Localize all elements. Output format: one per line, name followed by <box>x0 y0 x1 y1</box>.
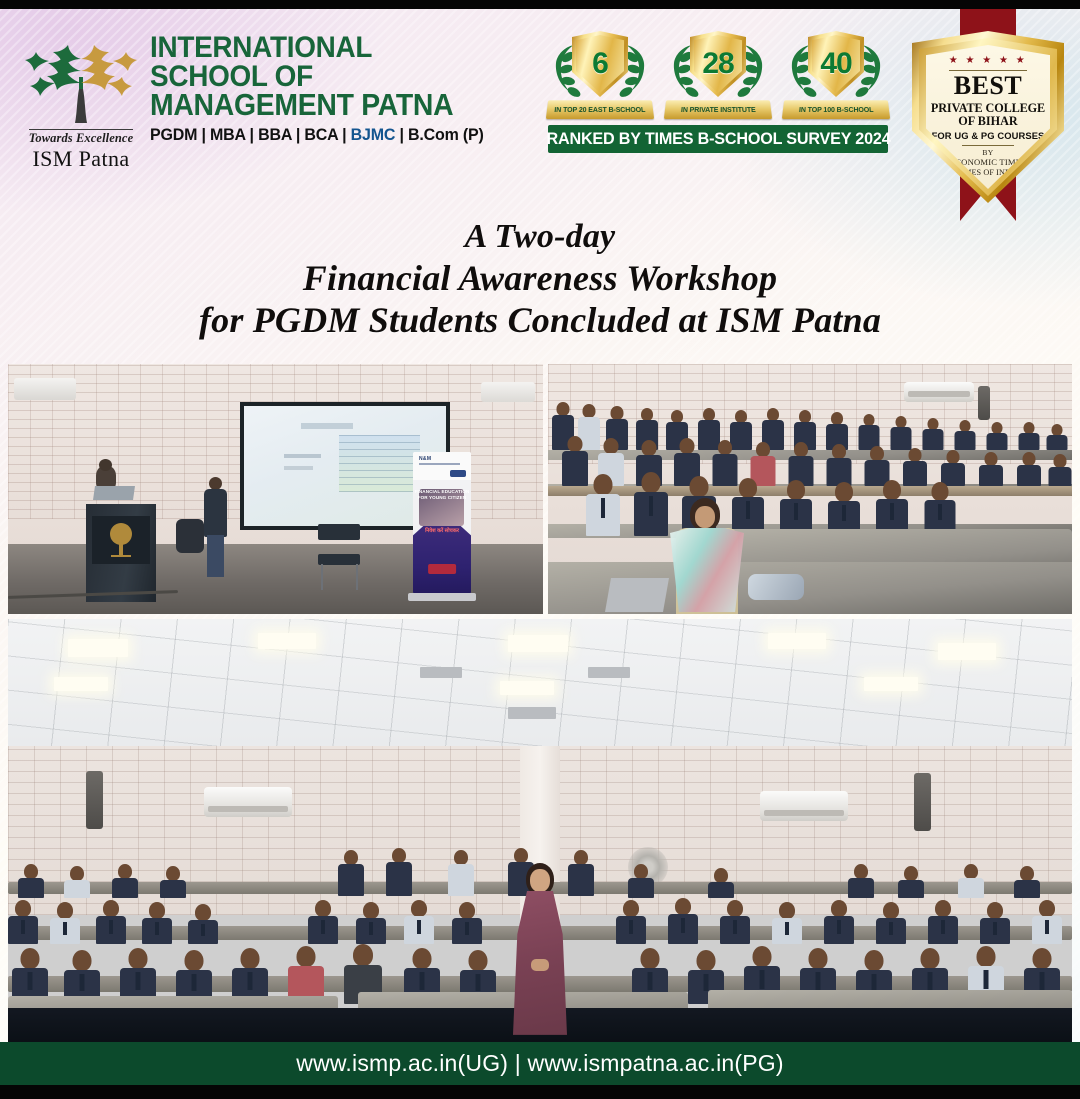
ceiling-light-panel <box>258 633 316 649</box>
student <box>8 900 38 944</box>
student <box>824 900 854 944</box>
lectern-podium <box>86 504 156 602</box>
student <box>958 864 984 898</box>
logo-short-name: ISM Patna <box>32 147 129 170</box>
banner-stand <box>408 593 476 601</box>
title-line3: for PGDM Students Concluded at ISM Patna <box>199 299 881 341</box>
presenter-face <box>530 869 550 892</box>
wall-speaker-icon <box>86 771 103 829</box>
air-conditioner-icon <box>14 378 76 400</box>
student <box>708 868 734 898</box>
podium-laptop <box>93 486 135 500</box>
student <box>1016 452 1042 486</box>
letterbox-bottom <box>0 1085 1080 1099</box>
banner-logo: N&M <box>419 456 431 462</box>
student <box>404 900 434 944</box>
belongings-on-bench <box>748 574 804 600</box>
student <box>308 900 338 944</box>
medal-rank-number: 28 <box>702 49 733 79</box>
medal-caption-scroll: IN TOP 20 EAST B-SCHOOL <box>546 100 654 119</box>
photo-collage: N&M FINANCIAL EDUCATIONFOR YOUNG CITIZEN… <box>8 364 1072 1042</box>
title-line2: Financial Awareness Workshop <box>303 257 777 299</box>
medal-rank-number: 40 <box>820 49 851 79</box>
programs-prefix: PGDM | MBA | BBA | BCA | <box>150 126 351 144</box>
podium-tree-logo-icon <box>99 521 143 559</box>
student <box>890 416 912 450</box>
student <box>112 864 138 898</box>
presenter-standing <box>509 863 571 1035</box>
standing-attendee <box>204 477 227 577</box>
student <box>954 420 976 450</box>
student <box>160 866 186 898</box>
attendee-torso <box>204 489 227 537</box>
student <box>876 480 908 536</box>
student <box>928 900 958 944</box>
poster-header: Towards Excellence ISM Patna INTERNATION… <box>0 9 1080 201</box>
student <box>1014 866 1040 898</box>
ranked-by-bar: RANKED BY TIMES B-SCHOOL SURVEY 2024 <box>548 125 888 153</box>
hall-ceiling <box>8 619 1072 759</box>
student <box>858 414 880 450</box>
chair-seat <box>318 554 360 565</box>
programs-list: PGDM | MBA | BBA | BCA | BJMC | B.Com (P… <box>150 126 484 145</box>
air-conditioner-icon <box>760 791 848 821</box>
student <box>562 436 588 486</box>
award-divider-bottom <box>962 145 1014 146</box>
medal-caption-scroll: IN TOP 100 B-SCHOOL <box>782 100 890 119</box>
rankings-group: 6 IN TOP 20 EAST B-SCHOOL <box>548 31 888 153</box>
award-shield-face: ★ ★ ★ ★ ★ BEST PRIVATE COLLEGE OF BIHAR … <box>926 45 1050 189</box>
slide-title-bar <box>301 423 354 429</box>
student <box>50 902 80 944</box>
student <box>720 900 750 944</box>
ceiling-light-panel <box>768 633 826 649</box>
student <box>1048 454 1072 486</box>
student <box>568 850 594 896</box>
student <box>386 848 412 896</box>
award-line3: FOR UG & PG COURSES <box>932 130 1045 141</box>
ceiling-light-panel <box>500 681 554 695</box>
award-line2: OF BIHAR <box>958 115 1017 128</box>
student <box>898 866 924 898</box>
student <box>922 418 944 450</box>
student <box>828 482 860 536</box>
medal-3: 40 IN TOP 100 B-SCHOOL <box>784 31 888 123</box>
award-best-label: BEST <box>954 73 1023 99</box>
attendee-legs <box>207 535 224 577</box>
logo-mark: Towards Excellence ISM Patna <box>22 27 140 170</box>
title-line1: A Two-day <box>465 217 616 257</box>
student <box>18 864 44 898</box>
student <box>452 902 482 944</box>
ceiling-vent <box>588 667 630 678</box>
chair-leg <box>321 564 323 590</box>
award-stars-icon: ★ ★ ★ ★ ★ <box>949 56 1027 66</box>
photo-hall-wide <box>8 619 1072 1042</box>
student <box>772 902 802 944</box>
student <box>1018 422 1040 450</box>
student <box>616 900 646 944</box>
slide-line <box>284 454 320 458</box>
medal-caption: IN PRIVATE INSTITUTE <box>680 105 755 114</box>
audience-area <box>8 864 1072 1042</box>
photo-audience-tiered <box>548 364 1072 614</box>
ceiling-light-panel <box>54 677 108 691</box>
student <box>986 422 1008 450</box>
student <box>188 904 218 944</box>
podium-front-panel <box>92 516 150 564</box>
backpack <box>176 519 204 553</box>
student <box>448 850 474 896</box>
student <box>848 864 874 898</box>
student <box>876 902 906 944</box>
institution-logo-block: Towards Excellence ISM Patna INTERNATION… <box>22 27 532 187</box>
medal-rank-number: 6 <box>592 49 608 79</box>
ceiling-vent <box>420 667 462 678</box>
slide-table <box>339 435 420 493</box>
faculty-member-foreground <box>668 498 746 614</box>
student <box>1032 900 1062 944</box>
ceiling-vent <box>508 707 556 719</box>
student <box>96 900 126 944</box>
website-footer-bar: www.ismp.ac.in(UG) | www.ismpatna.ac.in(… <box>0 1042 1080 1085</box>
banner-face: N&M FINANCIAL EDUCATIONFOR YOUNG CITIZEN… <box>413 452 471 594</box>
programs-suffix: | B.Com (P) <box>395 126 483 144</box>
medal-caption-scroll: IN PRIVATE INSTITUTE <box>664 100 772 119</box>
student <box>142 902 172 944</box>
student <box>668 898 698 944</box>
award-shield-outer: ★ ★ ★ ★ ★ BEST PRIVATE COLLEGE OF BIHAR … <box>912 31 1064 203</box>
student <box>628 864 654 898</box>
medal-2: 28 IN PRIVATE INSTITUTE <box>666 31 770 123</box>
banner-message-panel <box>413 526 471 594</box>
award-line1: PRIVATE COLLEGE <box>931 101 1045 115</box>
rollup-banner: N&M FINANCIAL EDUCATIONFOR YOUNG CITIZEN… <box>413 452 471 594</box>
banner-subtitle-rule <box>419 463 460 465</box>
medal-1: 6 IN TOP 20 EAST B-SCHOOL <box>548 31 652 123</box>
institution-name: INTERNATIONAL SCHOOL OF MANAGEMENT PATNA… <box>140 27 494 145</box>
website-urls[interactable]: www.ismp.ac.in(UG) | www.ismpatna.ac.in(… <box>296 1050 783 1077</box>
letterbox-top <box>0 0 1080 9</box>
medal-caption: IN TOP 20 EAST B-SCHOOL <box>554 105 646 114</box>
tree-logo-icon <box>25 31 137 127</box>
poster-canvas: Towards Excellence ISM Patna INTERNATION… <box>0 0 1080 1099</box>
student <box>356 902 386 944</box>
award-by-label: BY <box>982 148 993 157</box>
chair-leg <box>356 564 358 590</box>
best-college-award-badge: ★ ★ ★ ★ ★ BEST PRIVATE COLLEGE OF BIHAR … <box>900 9 1076 231</box>
open-laptop <box>605 578 669 612</box>
logo-divider <box>29 129 133 130</box>
student <box>940 450 966 486</box>
banner-headline: FINANCIAL EDUCATIONFOR YOUNG CITIZEN <box>413 489 471 501</box>
chair-back <box>318 524 360 540</box>
medal-caption: IN TOP 100 B-SCHOOL <box>798 105 873 114</box>
stage-chair <box>318 524 360 590</box>
ceiling-light-panel <box>864 677 918 691</box>
student <box>978 452 1004 486</box>
faculty-dupatta <box>670 528 744 612</box>
institution-name-line1: INTERNATIONAL <box>150 33 470 62</box>
banner-subhead: निवेश करें सोचकर <box>413 526 471 534</box>
ceiling-light-panel <box>508 635 568 652</box>
air-conditioner-icon <box>204 787 292 817</box>
medals-row: 6 IN TOP 20 EAST B-SCHOOL <box>548 31 888 123</box>
student <box>924 482 956 536</box>
programs-highlight: BJMC <box>351 126 396 144</box>
faculty-face <box>695 506 715 528</box>
audience-area <box>548 364 1072 614</box>
institution-name-line2: SCHOOL OF <box>150 62 470 91</box>
wall-speaker-icon <box>914 773 931 831</box>
student <box>586 474 620 536</box>
student <box>338 850 364 896</box>
ceiling-light-panel <box>938 643 996 660</box>
student <box>826 444 852 486</box>
ranked-by-label: RANKED BY TIMES B-SCHOOL SURVEY 2024 <box>546 130 890 149</box>
photo-stage-podium: N&M FINANCIAL EDUCATIONFOR YOUNG CITIZEN… <box>8 364 543 614</box>
student <box>64 866 90 898</box>
air-conditioner-icon <box>481 382 535 402</box>
banner-cta <box>428 564 456 574</box>
student <box>634 472 668 536</box>
presenter-hands <box>531 959 549 971</box>
logo-tagline: Towards Excellence <box>29 131 133 146</box>
slide-line <box>284 466 312 470</box>
institution-name-line3: MANAGEMENT PATNA <box>150 91 470 121</box>
student <box>980 902 1010 944</box>
student <box>1046 424 1068 450</box>
banner-partner-logos <box>450 470 466 477</box>
student <box>780 480 812 536</box>
ceiling-light-panel <box>68 639 128 657</box>
